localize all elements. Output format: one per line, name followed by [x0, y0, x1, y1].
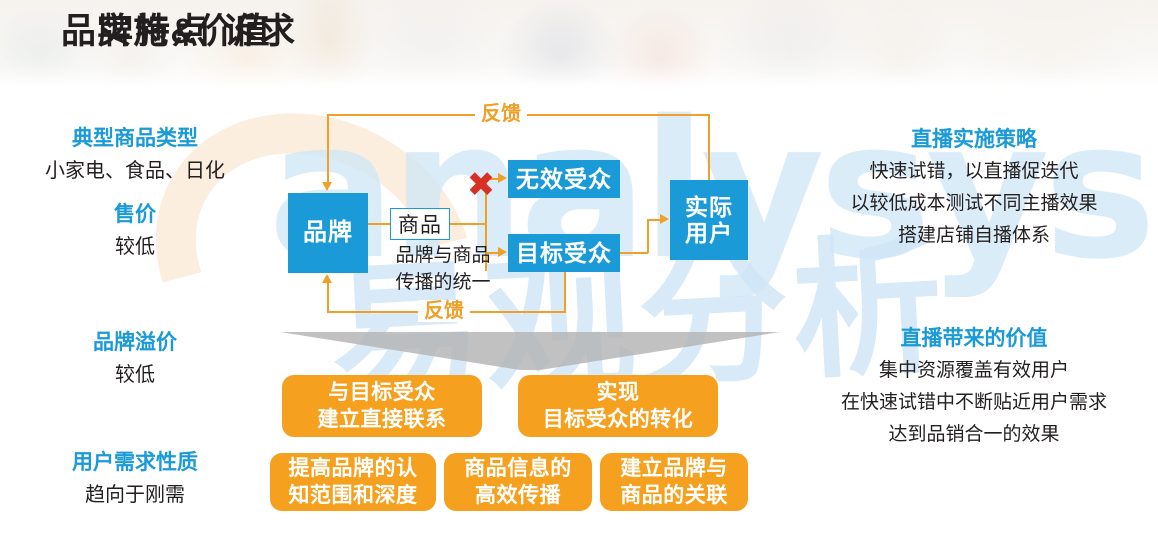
right-block-live-value: 直播带来的价值 集中资源覆盖有效用户 在快速试错中不断贴近用户需求 达到品销合一… [790, 323, 1158, 451]
feedback-top-label: 反馈 [475, 103, 527, 125]
to-invalid-arrowhead [498, 173, 507, 183]
goods-out-line [450, 223, 486, 225]
left-block-heading: 用户需求性质 [0, 448, 270, 478]
diagram-caption-line1: 品牌与商品 [380, 242, 506, 269]
feedback-bottom-arrowhead [322, 274, 332, 283]
flow-diagram: 反馈 反馈 品牌 商品 无效受众 目标受众 [270, 92, 790, 342]
outcome-line1: 商品信息的 [464, 457, 572, 480]
feedback-bottom-line-right [564, 272, 566, 313]
left-block-heading: 品牌溢价 [0, 328, 270, 358]
outcome-line1: 提高品牌的认 [289, 457, 418, 480]
left-block-value: 较低 [0, 232, 270, 262]
target-to-actual-line-3 [647, 219, 661, 221]
right-block-line: 以较低成本测试不同主播效果 [790, 188, 1158, 220]
node-goods[interactable]: 商品 [390, 208, 450, 240]
right-block-line: 在快速试错中不断贴近用户需求 [790, 387, 1158, 419]
left-block-value: 小家电、食品、日化 [0, 156, 270, 186]
target-to-actual-arrowhead [660, 214, 669, 224]
target-to-actual-line-2 [647, 219, 649, 253]
right-block-line: 搭建店铺自播体系 [790, 220, 1158, 252]
outcome-line1: 与目标受众 [328, 381, 436, 404]
right-block-line: 集中资源覆盖有效用户 [790, 355, 1158, 387]
feedback-bottom-label: 反馈 [418, 300, 470, 322]
diagram-caption: 品牌与商品 传播的统一 [380, 242, 506, 296]
right-block-line: 快速试错，以直播促迭代 [790, 156, 1158, 188]
feedback-bottom-line-left [327, 282, 329, 312]
right-block-live-strategy: 直播实施策略 快速试错，以直播促迭代 以较低成本测试不同主播效果 搭建店铺自播体… [790, 124, 1158, 252]
target-to-actual-line-1 [620, 252, 648, 254]
outcome-line2: 商品的关联 [620, 484, 728, 507]
diagram-caption-line2: 传播的统一 [380, 269, 506, 296]
outcome-line2: 高效传播 [475, 484, 561, 507]
left-column: 典型商品类型 小家电、食品、日化 售价 较低 品牌溢价 较低 用户需求性质 趋向… [0, 92, 270, 533]
left-block-heading: 典型商品类型 [0, 124, 270, 154]
node-invalid-audience[interactable]: 无效受众 [508, 160, 620, 198]
left-block-value: 趋向于刚需 [0, 480, 270, 510]
outcome-box-brand-product-link[interactable]: 建立品牌与 商品的关联 [600, 453, 748, 511]
cross-mark-icon: ✖ [466, 170, 496, 200]
left-block-brand-premium: 品牌溢价 较低 [0, 328, 270, 390]
chevron-down-divider [280, 332, 780, 370]
node-actual-user-line2: 用户 [685, 220, 733, 246]
left-block-heading: 售价 [0, 200, 270, 230]
node-actual-user-line1: 实际 [685, 194, 733, 220]
feedback-top-line-left [327, 114, 329, 182]
node-brand[interactable]: 品牌 [288, 193, 368, 273]
node-actual-user[interactable]: 实际 用户 [670, 180, 748, 260]
brand-to-goods-line [368, 223, 391, 225]
feedback-top-arrowhead [322, 182, 332, 191]
right-block-heading: 直播带来的价值 [790, 323, 1158, 355]
outcome-box-brand-awareness[interactable]: 提高品牌的认 知范围和深度 [270, 453, 436, 511]
right-column: 直播实施策略 快速试错，以直播促迭代 以较低成本测试不同主播效果 搭建店铺自播体… [790, 92, 1158, 533]
outcome-box-direct-connection[interactable]: 与目标受众 建立直接联系 [282, 375, 482, 437]
outcome-box-conversion[interactable]: 实现 目标受众的转化 [518, 375, 718, 437]
content-area: 典型商品类型 小家电、食品、日化 售价 较低 品牌溢价 较低 用户需求性质 趋向… [0, 0, 1158, 533]
outcome-line2: 知范围和深度 [289, 484, 418, 507]
outcome-line2: 建立直接联系 [318, 408, 447, 431]
left-block-price: 售价 较低 [0, 200, 270, 262]
right-block-line: 达到品销合一的效果 [790, 419, 1158, 451]
left-block-user-demand: 用户需求性质 趋向于刚需 [0, 448, 270, 510]
outcome-line1: 实现 [597, 381, 640, 404]
left-block-value: 较低 [0, 360, 270, 390]
feedback-top-line-right [708, 114, 710, 180]
right-block-heading: 直播实施策略 [790, 124, 1158, 156]
outcome-box-product-info[interactable]: 商品信息的 高效传播 [444, 453, 592, 511]
node-target-audience[interactable]: 目标受众 [508, 234, 620, 272]
center-diagram: 反馈 反馈 品牌 商品 无效受众 目标受众 [270, 92, 790, 533]
left-block-product-type: 典型商品类型 小家电、食品、日化 [0, 124, 270, 186]
outcome-line2: 目标受众的转化 [543, 408, 694, 431]
outcome-line1: 建立品牌与 [620, 457, 728, 480]
